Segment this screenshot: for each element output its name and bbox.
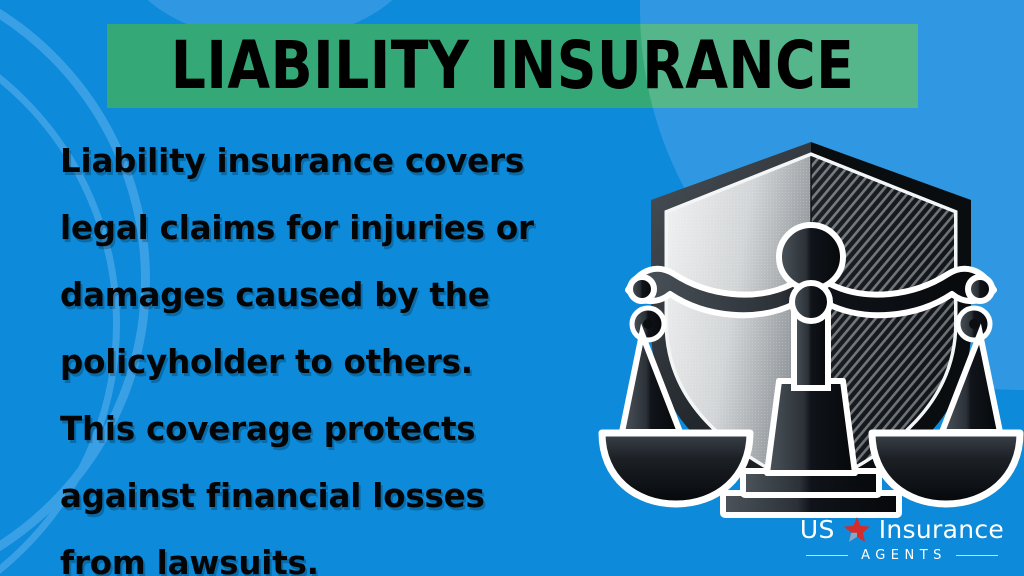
body-paragraph: Liability insurance covers legal claims … <box>60 128 620 576</box>
brand-logo[interactable]: US Insurance AGENTS <box>798 516 1006 562</box>
body-line: damages caused by the <box>60 262 620 329</box>
body-line: policyholder to others. <box>60 329 620 396</box>
logo-rule-left <box>806 555 848 556</box>
infographic-canvas: LIABILITY INSURANCE Liability insurance … <box>0 0 1024 576</box>
logo-rule-right <box>956 555 998 556</box>
body-line: from lawsuits. <box>60 530 620 576</box>
shield-and-scales-illustration <box>596 138 1024 528</box>
body-line: Liability insurance covers <box>60 128 620 195</box>
logo-text-insurance: Insurance <box>879 517 1004 542</box>
star-icon <box>844 517 870 543</box>
logo-text-agents: AGENTS <box>857 549 947 562</box>
logo-secondary-line: AGENTS <box>798 549 1006 562</box>
body-line: against financial losses <box>60 463 620 530</box>
logo-text-us: US <box>800 517 835 542</box>
logo-primary-line: US Insurance <box>798 516 1006 542</box>
page-title: LIABILITY INSURANCE <box>171 33 855 99</box>
body-line: legal claims for injuries or <box>60 195 620 262</box>
title-highlight-band: LIABILITY INSURANCE <box>107 24 918 108</box>
body-line: This coverage protects <box>60 396 620 463</box>
